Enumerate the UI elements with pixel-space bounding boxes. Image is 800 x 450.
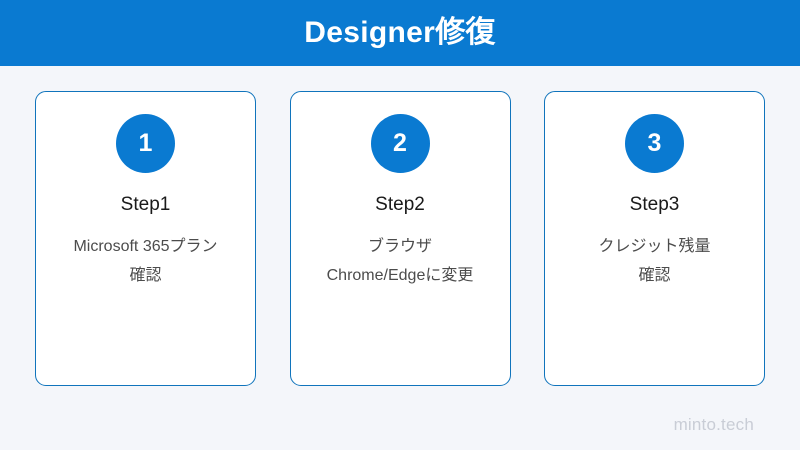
step-card-1[interactable]: 1 Step1 Microsoft 365プラン 確認: [35, 91, 256, 386]
slide-header: Designer修復: [0, 0, 800, 66]
step-card-body-2: ブラウザ Chrome/Edgeに変更: [291, 232, 510, 290]
step-number-badge-2: 2: [371, 114, 430, 173]
step-card-3[interactable]: 3 Step3 クレジット残量 確認: [544, 91, 765, 386]
watermark-label: minto.tech: [674, 416, 754, 433]
step-card-title-2: Step2: [375, 195, 425, 214]
step-card-body-1: Microsoft 365プラン 確認: [36, 232, 255, 290]
step-card-title-1: Step1: [121, 195, 171, 214]
step-card-title-3: Step3: [630, 195, 680, 214]
step-card-body-3: クレジット残量 確認: [545, 232, 764, 290]
page-title: Designer修復: [304, 18, 495, 48]
step-number-badge-3: 3: [625, 114, 684, 173]
step-card-list: 1 Step1 Microsoft 365プラン 確認 2 Step2 ブラウザ…: [35, 91, 765, 386]
slide-canvas: Designer修復 1 Step1 Microsoft 365プラン 確認 2…: [0, 0, 800, 450]
step-card-2[interactable]: 2 Step2 ブラウザ Chrome/Edgeに変更: [290, 91, 511, 386]
step-number-badge-1: 1: [116, 114, 175, 173]
